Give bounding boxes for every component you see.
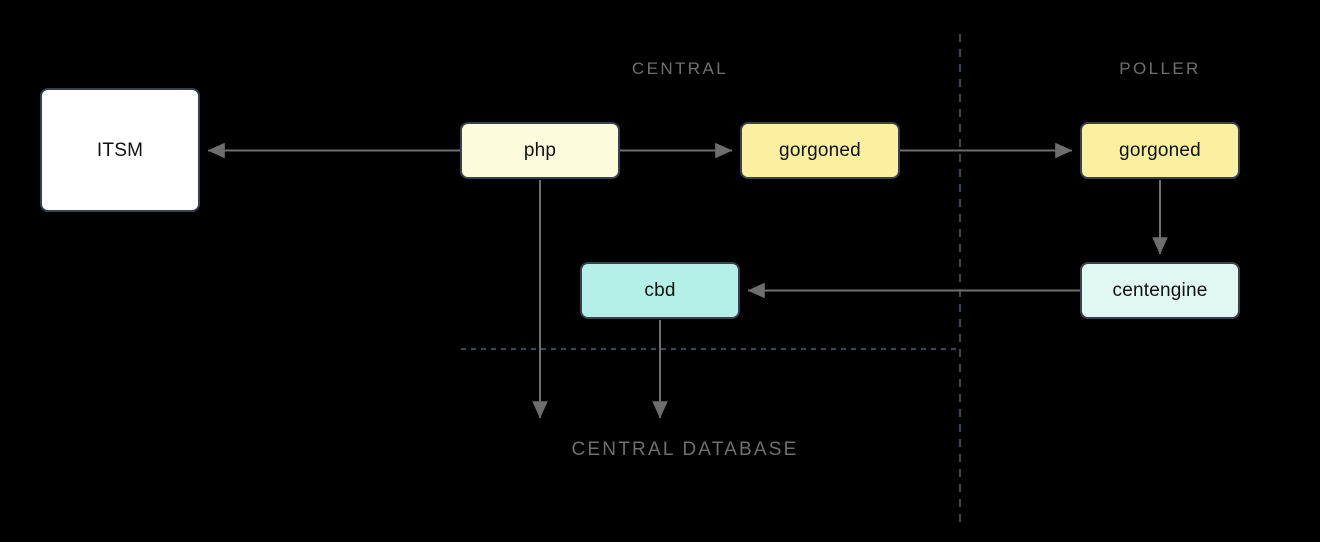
node-gorgoned-central[interactable]: gorgoned bbox=[740, 122, 900, 179]
node-php-label: php bbox=[524, 141, 556, 160]
node-cbd-label: cbd bbox=[644, 281, 675, 300]
node-itsm[interactable]: ITSM bbox=[40, 88, 200, 212]
zone-label-central: CENTRAL bbox=[580, 60, 780, 77]
central-database-label: CENTRAL DATABASE bbox=[470, 440, 900, 459]
node-gorgoned-poller[interactable]: gorgoned bbox=[1080, 122, 1240, 179]
node-centengine[interactable]: centengine bbox=[1080, 262, 1240, 319]
node-gorgoned-central-label: gorgoned bbox=[779, 141, 861, 160]
node-centengine-label: centengine bbox=[1113, 281, 1208, 300]
node-php[interactable]: php bbox=[460, 122, 620, 179]
node-itsm-label: ITSM bbox=[97, 141, 143, 160]
node-cbd[interactable]: cbd bbox=[580, 262, 740, 319]
node-gorgoned-poller-label: gorgoned bbox=[1119, 141, 1201, 160]
zone-label-poller: POLLER bbox=[1060, 60, 1260, 77]
diagram-canvas: CENTRAL POLLER ITSM php gorgoned gorgone… bbox=[0, 0, 1320, 542]
